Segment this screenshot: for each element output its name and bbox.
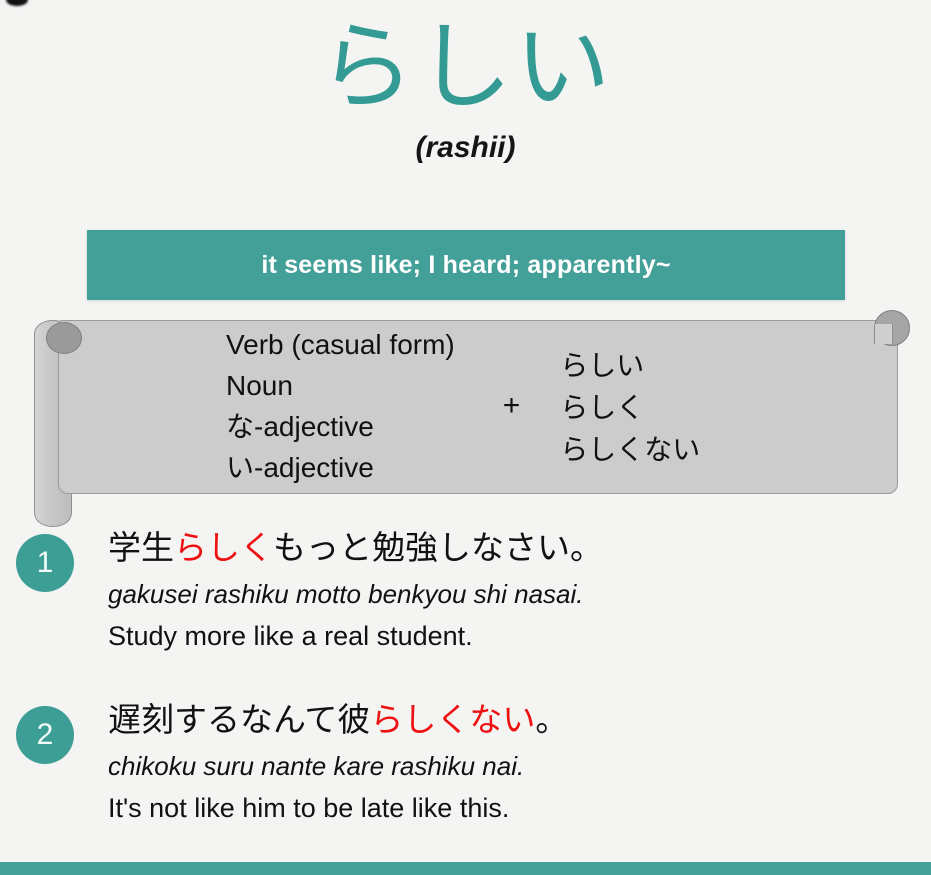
example-japanese-sentence: 学生らしくもっと勉強しなさい。 (108, 528, 911, 569)
formation-attach-item: い-adjective (226, 447, 455, 488)
bottom-accent-bar (0, 862, 931, 875)
example-english: Study more like a real student. (108, 618, 911, 656)
example-english: It's not like him to be late like this. (108, 790, 911, 828)
formation-ending-item: らしく (560, 387, 700, 429)
formation-content: Verb (casual form) Noun な-adjective い-ad… (58, 320, 896, 492)
example-romaji: gakusei rashiku motto benkyou shi nasai. (108, 575, 911, 614)
formation-attaches-to-list: Verb (casual form) Noun な-adjective い-ad… (226, 324, 455, 489)
example-jp-after: もっと勉強しなさい。 (273, 529, 603, 566)
formation-scroll-panel: Verb (casual form) Noun な-adjective い-ad… (22, 310, 908, 525)
formation-endings-list: らしい らしく らしくない (560, 345, 700, 471)
example-number-label: 2 (37, 720, 54, 750)
title-block: らしい (rashii) (0, 18, 931, 165)
example-jp-after: 。 (535, 701, 568, 738)
example-sentence-2: 2 遅刻するなんて彼らしくない。 chikoku suru nante kare… (0, 700, 931, 828)
example-number-badge: 2 (16, 706, 74, 764)
example-jp-highlight: らしく (174, 529, 273, 566)
example-jp-before: 学生 (108, 529, 174, 566)
example-number-badge: 1 (16, 534, 74, 592)
example-jp-highlight: らしくない (370, 701, 535, 738)
page-title-japanese: らしい (0, 18, 931, 119)
formation-ending-item: らしくない (560, 429, 700, 471)
meaning-banner: it seems like; I heard; apparently~ (87, 230, 845, 300)
example-japanese-sentence: 遅刻するなんて彼らしくない。 (108, 700, 911, 741)
example-text-block: 学生らしくもっと勉強しなさい。 gakusei rashiku motto be… (108, 528, 931, 656)
meaning-text: it seems like; I heard; apparently~ (261, 251, 670, 280)
page-title-romaji: (rashii) (0, 131, 931, 165)
example-sentence-1: 1 学生らしくもっと勉強しなさい。 gakusei rashiku motto … (0, 528, 931, 656)
example-number-label: 1 (37, 548, 54, 578)
formation-plus-operator: + (503, 389, 521, 423)
formation-ending-item: らしい (560, 345, 700, 387)
example-romaji: chikoku suru nante kare rashiku nai. (108, 747, 911, 786)
formation-attach-item: Verb (casual form) (226, 324, 455, 365)
formation-attach-item: Noun (226, 365, 455, 406)
example-jp-before: 遅刻するなんて彼 (108, 701, 370, 738)
example-text-block: 遅刻するなんて彼らしくない。 chikoku suru nante kare r… (108, 700, 931, 828)
formation-attach-item: な-adjective (226, 406, 455, 447)
corner-artifact-mark (6, 0, 28, 6)
